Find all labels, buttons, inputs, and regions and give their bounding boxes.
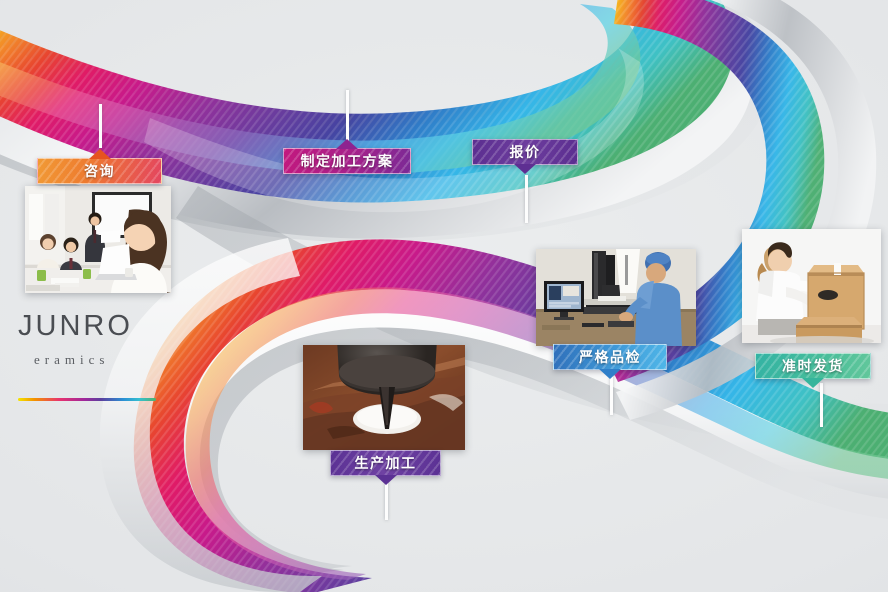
brand-tagline: eramics [34,352,198,368]
step-badge-shipping[interactable]: 准时发货 [755,353,871,379]
step-label-inspection: 严格品检 [579,347,641,367]
connector-quote [525,175,528,223]
connector-consult [99,104,102,148]
infographic-canvas: 咨询 制定加工方案 报价 生产加工 严格品检 准时发货 JUNRO eramic… [0,0,888,592]
step-badge-production[interactable]: 生产加工 [330,450,441,476]
brand-logo: JUNRO eramics [18,310,198,401]
brand-name: JUNRO [18,310,198,343]
step-label-quote: 报价 [510,142,541,162]
step-label-consult: 咨询 [84,161,115,181]
step-label-production: 生产加工 [355,453,417,473]
step-badge-inspection[interactable]: 严格品检 [553,344,667,370]
step-badge-quote[interactable]: 报价 [472,139,578,165]
step-label-shipping: 准时发货 [782,356,844,376]
inspection-photo [536,249,696,346]
production-photo [303,345,465,450]
consult-photo [25,186,171,293]
shipping-photo [742,229,881,343]
connector-shipping [820,383,823,427]
step-badge-plan[interactable]: 制定加工方案 [283,148,411,174]
brand-gradient-rule [18,398,156,401]
step-label-plan: 制定加工方案 [301,151,394,171]
connector-inspection [610,373,613,415]
step-badge-consult[interactable]: 咨询 [37,158,162,184]
